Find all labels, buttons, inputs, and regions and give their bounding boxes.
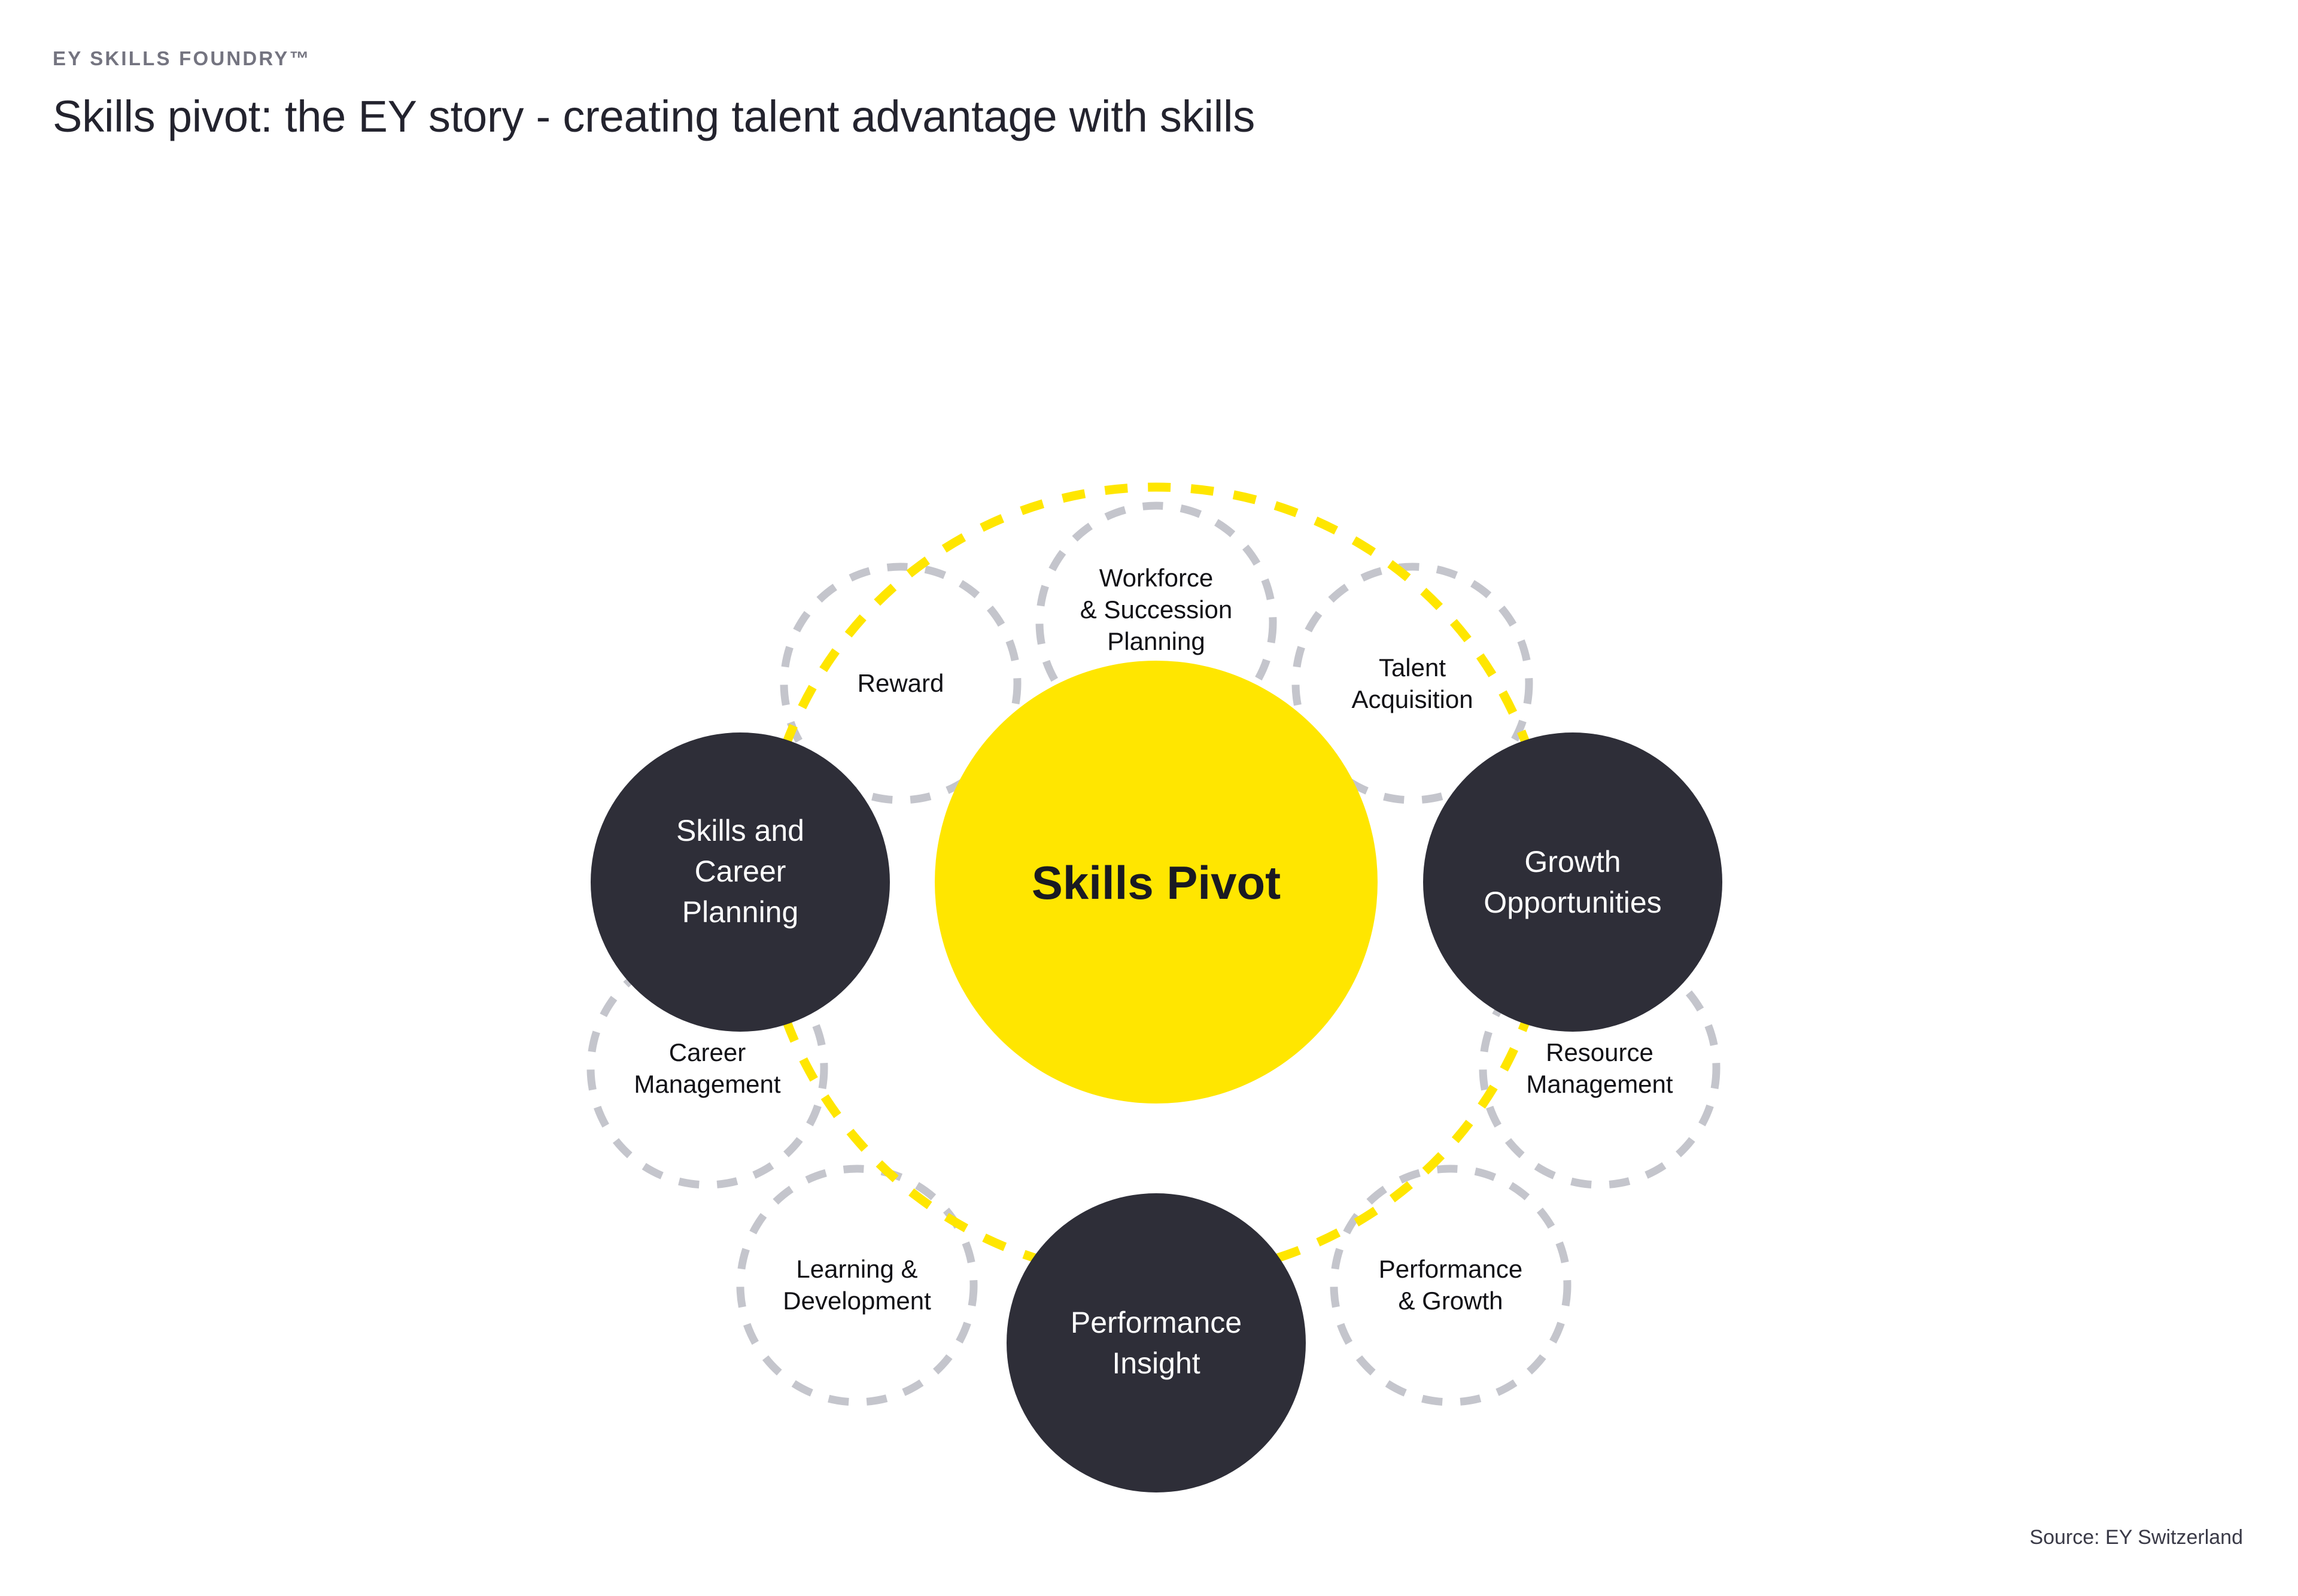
page-title: Skills pivot: the EY story - creating ta… [53, 92, 1848, 142]
satellite-label-learning-line2: Development [783, 1287, 931, 1315]
hub-label-left-line1: Skills and [676, 814, 804, 847]
satellite-label-career-line2: Management [634, 1070, 780, 1098]
satellite-label-reward: Reward [858, 669, 944, 697]
core-node-skills-pivot[interactable]: Skills Pivot [935, 661, 1378, 1103]
core-label: Skills Pivot [1032, 856, 1281, 909]
brand-eyebrow: EY SKILLS FOUNDRY™ [53, 48, 1848, 69]
hub-circle-shape-right [1423, 732, 1722, 1032]
satellite-label-workforce-line1: Workforce [1099, 564, 1214, 592]
satellite-label-workforce-line2: & Succession [1080, 595, 1232, 624]
source-attribution: Source: EY Switzerland [2029, 1526, 2243, 1549]
page-header: EY SKILLS FOUNDRY™ Skills pivot: the EY … [53, 48, 1848, 142]
satellite-label-career-line1: Career [669, 1038, 746, 1066]
satellite-label-workforce-line3: Planning [1107, 627, 1205, 655]
satellite-label-perf-growth-line2: & Growth [1398, 1287, 1503, 1315]
hub-node-skills-and-career-planning[interactable]: Skills and Career Planning [591, 732, 890, 1032]
hub-label-left-line3: Planning [682, 895, 799, 929]
satellite-label-learning-line1: Learning & [796, 1255, 917, 1283]
satellite-ring-performance-growth [1334, 1169, 1567, 1402]
hub-node-growth-opportunities[interactable]: Growth Opportunities [1423, 732, 1722, 1032]
hub-label-right-line1: Growth [1524, 845, 1621, 878]
satellite-label-perf-growth-line1: Performance [1379, 1255, 1522, 1283]
satellite-label-resource-line2: Management [1526, 1070, 1673, 1098]
hub-node-performance-insight[interactable]: Performance Insight [1007, 1193, 1306, 1492]
hub-label-bottom-line2: Insight [1112, 1346, 1200, 1380]
hub-label-bottom-line1: Performance [1071, 1306, 1242, 1339]
hub-label-left-line2: Career [695, 855, 786, 888]
satellite-label-resource-line1: Resource [1546, 1038, 1653, 1066]
satellite-label-talent-line1: Talent [1379, 653, 1446, 682]
satellite-ring-learning-development [740, 1169, 974, 1402]
hub-circle-shape-bottom [1007, 1193, 1306, 1492]
hub-label-right-line2: Opportunities [1484, 886, 1661, 919]
satellite-label-talent-line2: Acquisition [1351, 685, 1473, 713]
skills-pivot-diagram: Skills Pivot Skills and Career Planning … [0, 197, 2298, 1502]
